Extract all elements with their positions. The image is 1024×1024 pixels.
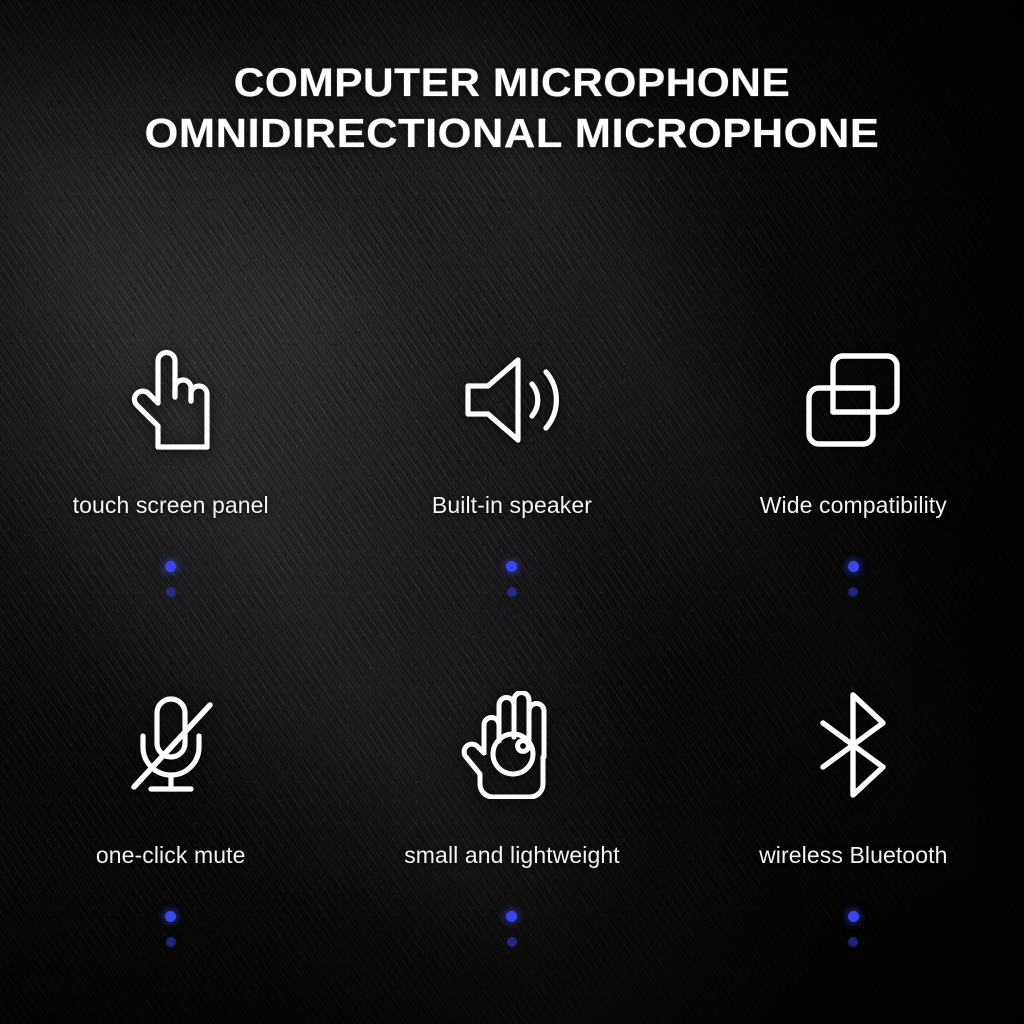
open-palm-icon [461,670,563,820]
feature-dot-top [848,561,859,572]
poster-heading: COMPUTER MICROPHONE OMNIDIRECTIONAL MICR… [0,58,1024,158]
feature-item-touch-screen-panel: touch screen panel [0,330,341,670]
pointing-hand-icon [125,330,217,470]
feature-label: Wide compatibility [760,492,947,519]
feature-label: Built-in speaker [432,492,592,519]
poster-content: COMPUTER MICROPHONE OMNIDIRECTIONAL MICR… [0,0,1024,1024]
feature-dot-bottom [166,937,176,947]
feature-dot-top [506,911,517,922]
feature-dot-bottom [848,937,858,947]
feature-dot-top [165,561,176,572]
feature-dot-group [165,911,176,947]
feature-dot-top [506,561,517,572]
product-feature-poster: COMPUTER MICROPHONE OMNIDIRECTIONAL MICR… [0,0,1024,1024]
feature-dot-bottom [166,587,176,597]
feature-dot-group [506,911,517,947]
feature-dot-top [848,911,859,922]
feature-item-one-click-mute: one-click mute [0,670,341,1010]
feature-grid: touch screen panel Built-in speaker [0,330,1024,1010]
heading-line-1: COMPUTER MICROPHONE [0,58,1024,108]
feature-dot-bottom [507,937,517,947]
heading-line-2: OMNIDIRECTIONAL MICROPHONE [0,108,1024,158]
speaker-volume-icon [460,330,564,470]
feature-label: small and lightweight [404,842,620,869]
feature-label: touch screen panel [73,492,269,519]
feature-dot-group [165,561,176,597]
feature-item-wireless-bluetooth: wireless Bluetooth [683,670,1024,1010]
feature-dot-group [506,561,517,597]
interlocking-squares-icon [803,330,903,470]
feature-item-wide-compatibility: Wide compatibility [683,330,1024,670]
feature-dot-group [848,561,859,597]
feature-dot-bottom [848,587,858,597]
feature-dot-group [848,911,859,947]
feature-dot-bottom [507,587,517,597]
bluetooth-icon [813,670,893,820]
feature-label: one-click mute [96,842,246,869]
feature-item-built-in-speaker: Built-in speaker [341,330,682,670]
feature-label: wireless Bluetooth [759,842,947,869]
feature-item-small-and-lightweight: small and lightweight [341,670,682,1010]
microphone-muted-icon [122,670,220,820]
feature-dot-top [165,911,176,922]
